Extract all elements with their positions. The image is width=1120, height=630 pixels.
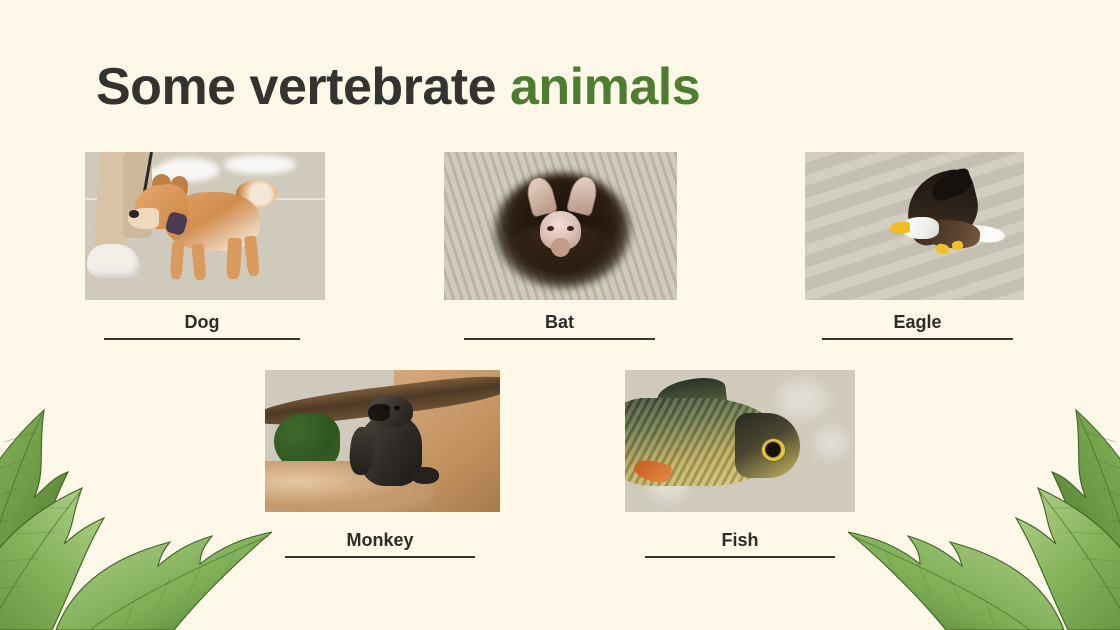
card-eagle[interactable] <box>805 152 1024 300</box>
bat-eye <box>547 226 554 231</box>
cloud-shape <box>224 155 296 174</box>
slide-canvas: Some vertebrate animals Dog <box>0 0 1120 630</box>
person-shoe <box>87 244 140 278</box>
card-bat[interactable] <box>444 152 677 300</box>
leaf-shape <box>56 532 272 630</box>
monkey-eye <box>383 406 389 410</box>
monkey-eye <box>394 406 400 410</box>
eagle-photo <box>805 152 1024 300</box>
leaf-shape <box>848 532 1064 630</box>
dog-nose <box>129 210 139 217</box>
bat-snout <box>551 238 570 257</box>
leaf-shape <box>0 410 68 630</box>
monkey-photo <box>265 370 500 512</box>
leaf-shape <box>1016 488 1120 630</box>
bat-photo <box>444 152 677 300</box>
eagle-talon <box>951 240 963 251</box>
title-accent-text: animals <box>510 58 700 116</box>
page-title: Some vertebrate animals <box>96 57 700 117</box>
card-rule-bat <box>464 338 655 340</box>
water-bokeh <box>777 381 828 418</box>
card-label-fish: Fish <box>645 530 835 551</box>
card-rule-dog <box>104 338 300 340</box>
card-fish[interactable] <box>625 370 855 512</box>
tropical-leaves-icon <box>0 380 286 630</box>
leaf-shape <box>1052 410 1120 630</box>
leaf-shape <box>0 488 104 630</box>
dog-leg <box>244 236 260 277</box>
tropical-leaves-icon <box>834 380 1120 630</box>
card-rule-monkey <box>285 556 475 558</box>
card-label-dog: Dog <box>104 312 300 333</box>
card-monkey[interactable] <box>265 370 500 512</box>
monkey-foot <box>411 467 439 484</box>
dog-photo <box>85 152 325 300</box>
dog-leg <box>226 237 243 279</box>
title-primary-text: Some vertebrate <box>96 58 510 116</box>
water-bokeh <box>814 427 849 458</box>
fish-photo <box>625 370 855 512</box>
card-rule-fish <box>645 556 835 558</box>
dog-leg <box>170 240 185 279</box>
card-rule-eagle <box>822 338 1013 340</box>
eagle-beak <box>890 221 911 235</box>
card-label-monkey: Monkey <box>285 530 475 551</box>
card-label-eagle: Eagle <box>822 312 1013 333</box>
card-label-bat: Bat <box>464 312 655 333</box>
card-dog[interactable] <box>85 152 325 300</box>
